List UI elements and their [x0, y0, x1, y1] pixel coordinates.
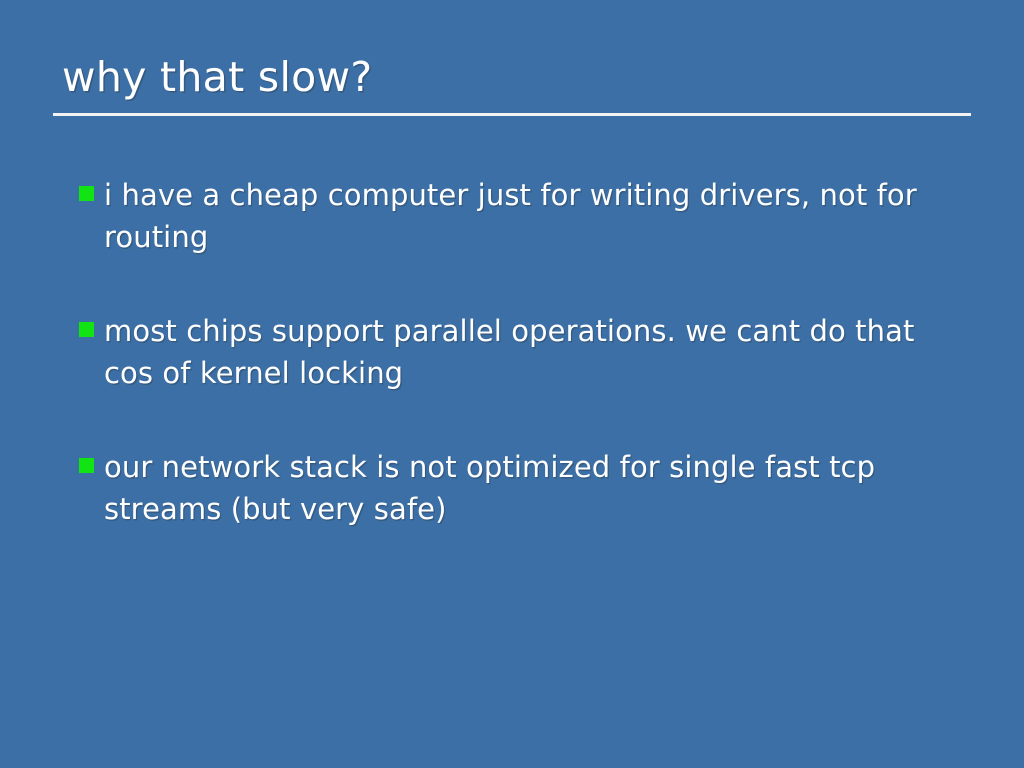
list-item-label: i have a cheap computer just for writing…	[104, 174, 949, 258]
green-square-bullet-icon	[79, 458, 94, 473]
page-title: why that slow?	[53, 52, 971, 102]
title-divider-line	[53, 113, 971, 116]
green-square-bullet-icon	[79, 186, 94, 201]
list-item: our network stack is not optimized for s…	[79, 446, 979, 530]
title-divider-shadow	[55, 116, 973, 119]
list-item-label: most chips support parallel operations. …	[104, 310, 949, 394]
list-item: i have a cheap computer just for writing…	[79, 174, 979, 258]
list-item: most chips support parallel operations. …	[79, 310, 979, 394]
list-item-label: our network stack is not optimized for s…	[104, 446, 949, 530]
green-square-bullet-icon	[79, 322, 94, 337]
slide-title-block: why that slow?	[53, 52, 971, 116]
presentation-slide: why that slow? i have a cheap computer j…	[0, 0, 1024, 768]
bullet-list: i have a cheap computer just for writing…	[79, 174, 979, 530]
